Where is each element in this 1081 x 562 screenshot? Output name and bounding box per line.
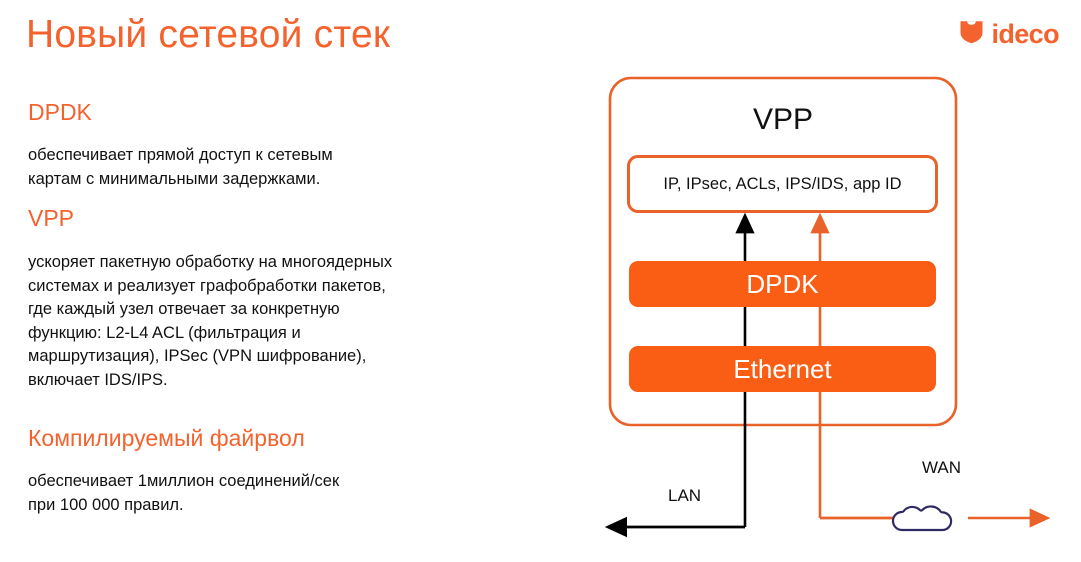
- section-heading-firewall: Компилируемый файрвол: [28, 425, 305, 452]
- brand-logo: ideco: [958, 18, 1059, 50]
- vpp-feature-box: IP, IPsec, ACLs, IPS/IDS, app ID: [627, 155, 938, 213]
- page-title: Новый сетевой стек: [26, 12, 390, 58]
- cloud-icon: [893, 506, 951, 530]
- stack-layer-dpdk: DPDK: [629, 261, 936, 307]
- vpp-feature-box-label: IP, IPsec, ACLs, IPS/IDS, app ID: [655, 173, 909, 195]
- stack-layer-ethernet-label: Ethernet: [733, 354, 831, 384]
- stack-layer-dpdk-label: DPDK: [746, 269, 818, 299]
- logo-wordmark: ideco: [991, 21, 1059, 48]
- section-heading-dpdk: DPDK: [28, 99, 92, 126]
- wan-label: WAN: [922, 458, 961, 478]
- section-heading-vpp: VPP: [28, 205, 74, 232]
- vpp-container-label: VPP: [610, 102, 956, 138]
- section-body-dpdk: обеспечивает прямой доступ к сетевым кар…: [28, 144, 518, 191]
- section-body-firewall: обеспечивает 1миллион соединений/сек при…: [28, 470, 518, 517]
- stack-layer-ethernet: Ethernet: [629, 346, 936, 392]
- lan-label: LAN: [668, 486, 701, 506]
- section-body-vpp: ускоряет пакетную обработку на многоядер…: [28, 251, 518, 392]
- ideco-shield-icon: [958, 18, 985, 50]
